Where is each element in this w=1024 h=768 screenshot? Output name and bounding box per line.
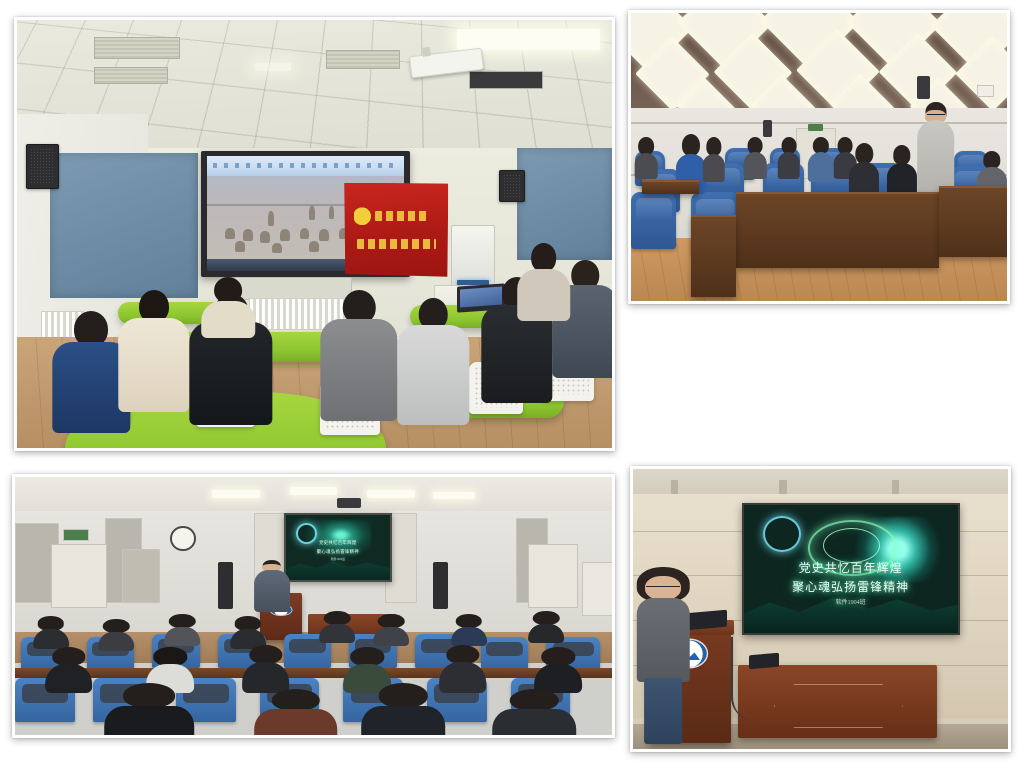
video-figure (260, 231, 270, 243)
seated-student (517, 243, 571, 320)
banner-text-line-2 (357, 239, 436, 249)
video-figure (300, 228, 310, 240)
blue-wall-panel (50, 153, 199, 299)
projection-screen: 党史共忆百年辉煌 聚心魂弘扬雷锋精神 软件1904班 (742, 503, 960, 636)
floor-speaker (433, 562, 449, 608)
wall-clock-icon (170, 526, 195, 551)
audience-desk (15, 668, 612, 678)
audience-member (99, 619, 135, 650)
speaker-legs (644, 678, 682, 744)
seated-student (320, 290, 397, 418)
slide-title-line-2: 聚心魂弘扬雷锋精神 (744, 578, 958, 595)
standing-attendee (917, 102, 955, 194)
seated-attendee (778, 137, 801, 177)
ceiling-light (433, 492, 475, 499)
seated-attendee (808, 137, 834, 180)
video-figure (272, 243, 282, 254)
ceiling-mount (892, 480, 900, 494)
video-figure (329, 206, 334, 219)
audience-member (451, 614, 487, 645)
wall-outlet (977, 85, 994, 97)
audience-member (45, 647, 93, 691)
big-room-scene: 党史共忆百年辉煌 聚心魂弘扬雷锋精神 软件1904班 (15, 477, 612, 735)
ceiling-light (255, 63, 291, 72)
hall-desk (939, 186, 1007, 257)
stage-table (738, 665, 937, 738)
exit-sign-icon (63, 529, 89, 541)
video-figure (243, 229, 253, 241)
photo-classroom-video-viewing[interactable] (14, 17, 615, 451)
room-door[interactable] (51, 544, 107, 608)
slide-subtitle: 软件1904班 (744, 597, 958, 606)
seated-attendee (635, 137, 658, 177)
ceiling-vent (94, 67, 167, 84)
slide-subtitle: 软件1904班 (286, 557, 390, 561)
audience-member (534, 647, 582, 691)
audience-member (242, 645, 290, 691)
photo-lecture-hall-blue-seats[interactable] (628, 10, 1010, 304)
video-figure (268, 211, 274, 226)
wall-speaker (917, 76, 930, 99)
audience-member (164, 614, 200, 645)
slide-title-line-1: 党史共忆百年辉煌 (744, 559, 958, 576)
party-banner (344, 183, 448, 277)
photo-speaker-at-podium[interactable]: 党史共忆百年辉煌 聚心魂弘扬雷锋精神 软件1904班 (630, 466, 1011, 752)
wall-speaker (26, 144, 59, 189)
video-figure (309, 241, 319, 252)
cable (731, 637, 756, 721)
ceiling-vent (94, 37, 179, 59)
hall-seat[interactable] (631, 192, 676, 250)
seated-student (201, 277, 255, 337)
speaker-presenter (637, 567, 690, 741)
seated-attendee (744, 137, 767, 177)
projector (337, 498, 361, 508)
speaker-torso (637, 598, 690, 681)
seated-student (398, 298, 469, 422)
audience-member-front (361, 683, 445, 735)
hall-desk-small (691, 215, 736, 298)
table-panel-detail (774, 684, 903, 728)
ceiling-mount (779, 480, 787, 494)
ceiling-light (212, 490, 260, 498)
audience-member (373, 614, 409, 645)
ceiling-light (290, 487, 338, 495)
audience-member (319, 611, 355, 642)
video-figure (225, 228, 235, 240)
banner-text-line-1 (375, 211, 429, 221)
hall-desk (736, 192, 939, 269)
audience-member (439, 645, 487, 691)
photo-big-lecture-room-audience[interactable]: 党史共忆百年辉煌 聚心魂弘扬雷锋精神 软件1904班 (12, 474, 615, 738)
speaker-presenter (254, 560, 290, 612)
seated-attendee (702, 137, 725, 180)
lecture-hall-scene (631, 13, 1007, 301)
slide-title-line-2: 聚心魂弘扬雷锋精神 (286, 549, 390, 555)
exit-sign-icon (808, 124, 823, 131)
audience-member-front (105, 683, 195, 735)
room-door[interactable] (122, 549, 160, 603)
ceiling-light (367, 490, 415, 498)
photo-collage: 党史共忆百年辉煌 聚心魂弘扬雷锋精神 软件1904班 (0, 0, 1024, 768)
video-figure (235, 241, 245, 252)
audience-member-front (493, 689, 577, 735)
wall-speaker (763, 120, 773, 137)
video-figure (319, 229, 329, 241)
ceiling-light (457, 29, 600, 50)
ceiling-vent (469, 71, 542, 88)
ceiling-vent (326, 50, 399, 69)
air-conditioner (582, 562, 612, 616)
slide-flag-emblem-icon (763, 516, 801, 552)
speaker-scene: 党史共忆百年辉煌 聚心魂弘扬雷锋精神 软件1904班 (633, 469, 1008, 749)
room-door[interactable] (528, 544, 578, 608)
party-emblem-icon (354, 205, 373, 229)
audience-seat[interactable] (481, 637, 529, 671)
audience-member-front (254, 689, 338, 735)
audience-member (528, 611, 564, 642)
audience-member (230, 616, 266, 647)
floor-speaker (218, 562, 234, 608)
seated-student (118, 290, 189, 410)
video-figure (309, 206, 314, 220)
hall-desk-small (642, 180, 698, 194)
wall-speaker (499, 170, 525, 202)
classroom-scene (17, 20, 612, 448)
ceiling-mount (671, 480, 679, 494)
video-player-toolbar (207, 156, 403, 178)
video-figure (280, 229, 290, 241)
projection-screen: 党史共忆百年辉煌 聚心魂弘扬雷锋精神 软件1904班 (284, 513, 392, 582)
audience-member (33, 616, 69, 647)
slide-title-line-1: 党史共忆百年辉煌 (286, 540, 390, 546)
